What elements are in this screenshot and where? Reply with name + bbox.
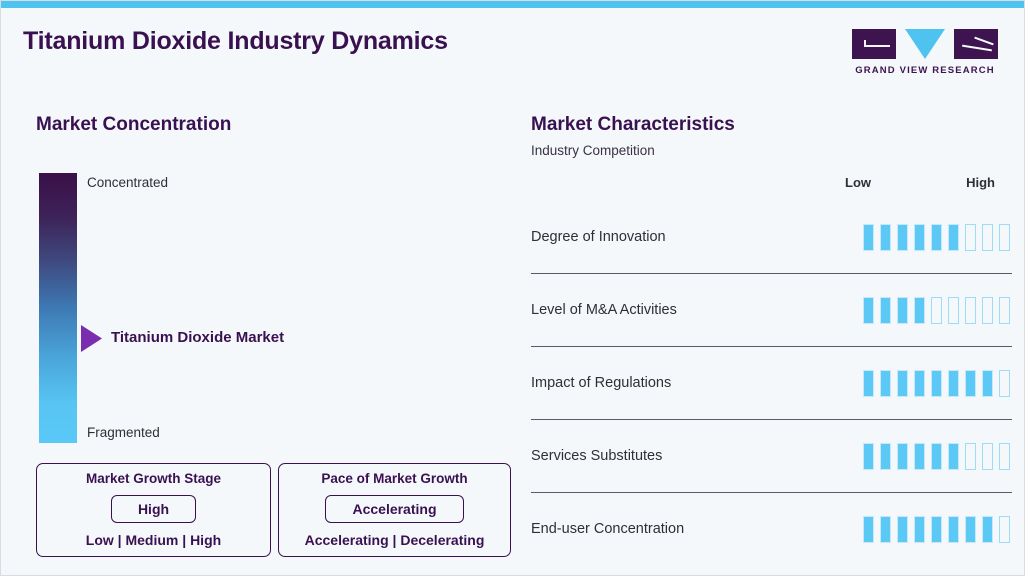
rating-scale-high-label: High (966, 175, 995, 190)
rating-segment-filled (948, 516, 959, 543)
rating-segment-filled (965, 516, 976, 543)
rating-bar-group (863, 224, 1010, 251)
market-concentration-heading: Market Concentration (36, 114, 231, 136)
rating-row-label: Degree of Innovation (531, 229, 666, 245)
market-concentration-panel: Market Concentration Concentrated Fragme… (1, 1, 513, 576)
rating-segment-filled (914, 370, 925, 397)
rating-segment-filled (897, 516, 908, 543)
rating-row: Services Substitutes (531, 419, 1012, 492)
rating-segment-filled (880, 443, 891, 470)
market-growth-stage-title: Market Growth Stage (86, 471, 221, 486)
rating-segment-empty (999, 443, 1010, 470)
rating-segment-filled (948, 224, 959, 251)
rating-segment-filled (931, 516, 942, 543)
rating-segment-filled (897, 443, 908, 470)
rating-row: End-user Concentration (531, 492, 1012, 565)
rating-segment-empty (982, 297, 993, 324)
rating-bar-group (863, 297, 1010, 324)
rating-segment-filled (880, 516, 891, 543)
rating-segment-filled (914, 443, 925, 470)
rating-rows-list: Degree of InnovationLevel of M&A Activit… (531, 201, 1012, 565)
rating-segment-filled (897, 370, 908, 397)
pace-of-market-growth-title: Pace of Market Growth (321, 471, 467, 486)
rating-segment-empty (948, 297, 959, 324)
rating-segment-filled (965, 370, 976, 397)
rating-row-label: Level of M&A Activities (531, 302, 677, 318)
market-growth-stage-card: Market Growth Stage High Low | Medium | … (36, 463, 271, 557)
rating-segment-filled (982, 370, 993, 397)
rating-row-label: Services Substitutes (531, 448, 662, 464)
infographic-page: Titanium Dioxide Industry Dynamics GRAND… (0, 0, 1025, 576)
market-growth-stage-value[interactable]: High (111, 495, 196, 523)
rating-row: Impact of Regulations (531, 346, 1012, 419)
rating-segment-empty (999, 224, 1010, 251)
rating-segment-empty (965, 443, 976, 470)
rating-segment-filled (931, 443, 942, 470)
rating-scale-labels: Low High (845, 175, 995, 190)
concentration-top-label: Concentrated (87, 175, 168, 190)
pace-of-market-growth-card: Pace of Market Growth Accelerating Accel… (278, 463, 511, 557)
concentration-bottom-label: Fragmented (87, 425, 160, 440)
rating-bar-group (863, 443, 1010, 470)
rating-segment-filled (948, 443, 959, 470)
rating-segment-filled (914, 224, 925, 251)
rating-segment-filled (914, 516, 925, 543)
rating-segment-filled (982, 516, 993, 543)
rating-segment-filled (863, 516, 874, 543)
rating-bar-group (863, 370, 1010, 397)
market-growth-stage-options: Low | Medium | High (86, 532, 221, 548)
concentration-gradient-bar (39, 173, 77, 443)
rating-segment-filled (914, 297, 925, 324)
rating-segment-filled (931, 370, 942, 397)
rating-segment-filled (863, 370, 874, 397)
market-characteristics-subheading: Industry Competition (531, 143, 655, 158)
rating-segment-filled (931, 224, 942, 251)
rating-row-label: End-user Concentration (531, 521, 684, 537)
rating-segment-filled (880, 370, 891, 397)
rating-segment-empty (982, 443, 993, 470)
market-characteristics-heading: Market Characteristics (531, 114, 735, 136)
rating-segment-empty (999, 370, 1010, 397)
rating-segment-filled (880, 224, 891, 251)
rating-segment-empty (965, 297, 976, 324)
rating-row: Level of M&A Activities (531, 273, 1012, 346)
market-characteristics-panel: Market Characteristics Industry Competit… (513, 1, 1025, 576)
rating-segment-filled (880, 297, 891, 324)
rating-segment-empty (999, 297, 1010, 324)
rating-segment-filled (863, 443, 874, 470)
pace-of-market-growth-value[interactable]: Accelerating (325, 495, 463, 523)
market-position-arrow-icon (81, 325, 102, 352)
market-position-label: Titanium Dioxide Market (111, 329, 284, 346)
rating-segment-filled (863, 297, 874, 324)
rating-segment-empty (999, 516, 1010, 543)
rating-row: Degree of Innovation (531, 201, 1012, 273)
rating-segment-filled (897, 224, 908, 251)
rating-bar-group (863, 516, 1010, 543)
rating-segment-filled (897, 297, 908, 324)
rating-segment-empty (982, 224, 993, 251)
rating-segment-filled (948, 370, 959, 397)
rating-scale-low-label: Low (845, 175, 871, 190)
rating-segment-filled (863, 224, 874, 251)
rating-segment-empty (965, 224, 976, 251)
rating-row-label: Impact of Regulations (531, 375, 671, 391)
rating-segment-empty (931, 297, 942, 324)
pace-of-market-growth-options: Accelerating | Decelerating (305, 532, 485, 548)
